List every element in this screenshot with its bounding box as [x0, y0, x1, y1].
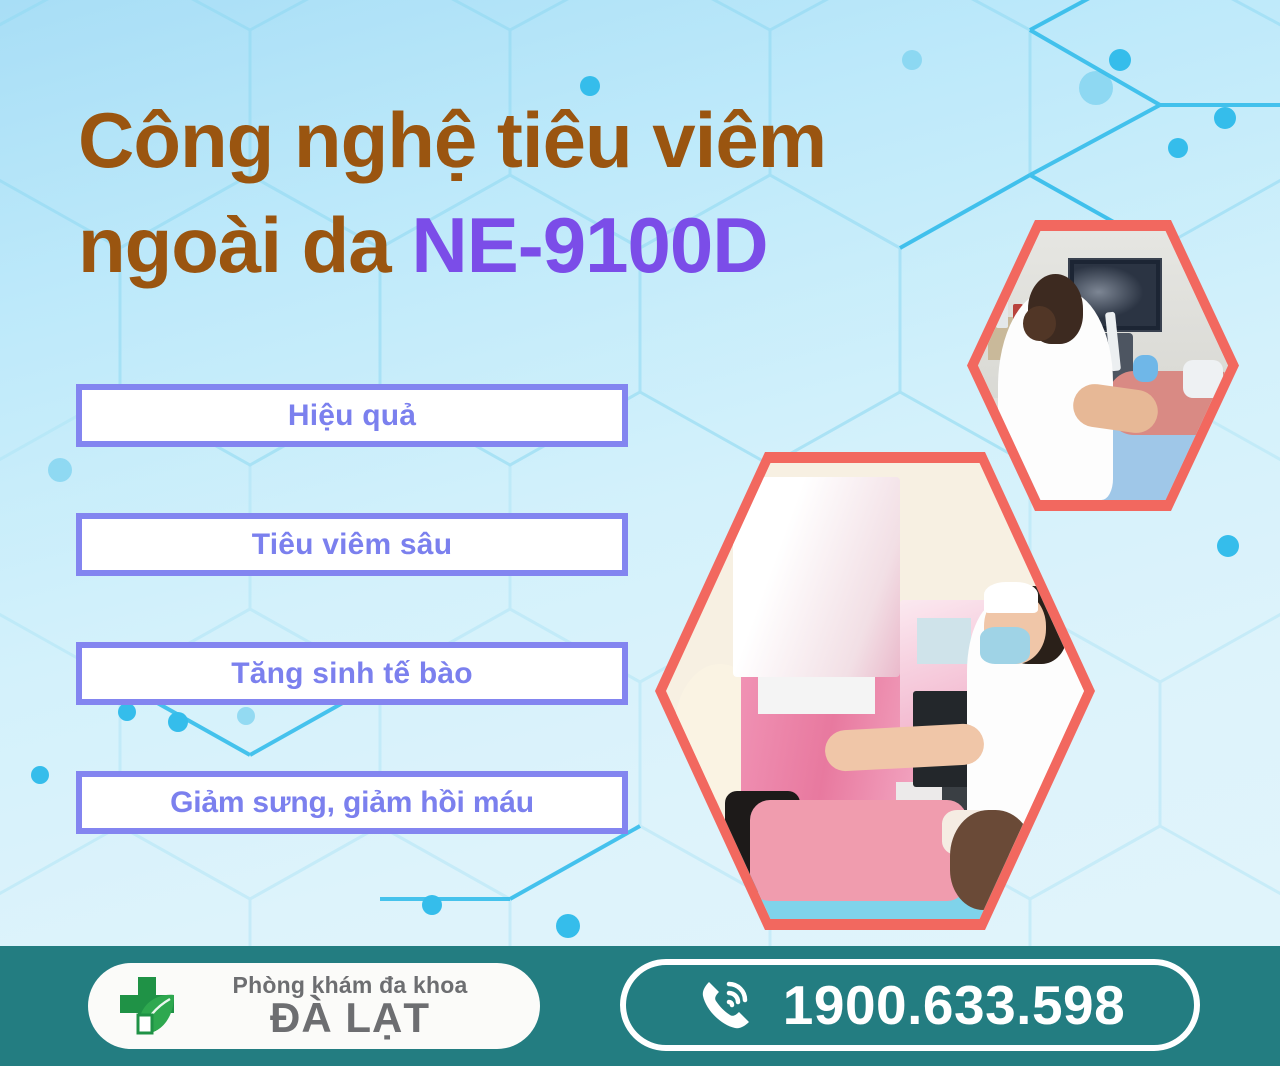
hotline-button[interactable]: 1900.633.598 [620, 959, 1200, 1051]
hex-frame [655, 452, 1095, 930]
feature-label: Tăng sinh tế bào [231, 657, 473, 691]
therapy-machine-image [666, 463, 1084, 919]
promo-banner: Công nghệ tiêu viêm ngoài da NE-9100D Hi… [0, 0, 1280, 1066]
hex-photo-inner [666, 463, 1084, 919]
footer-bar: Phòng khám đa khoa ĐÀ LẠT 1900.633.598 [0, 946, 1280, 1066]
feature-box-1[interactable]: Hiệu quả [76, 384, 628, 447]
feature-box-4[interactable]: Giảm sưng, giảm hồi máu [76, 771, 628, 834]
feature-box-3[interactable]: Tăng sinh tế bào [76, 642, 628, 705]
headline-line-2-prefix: ngoài da [78, 201, 411, 289]
headline-line-1: Công nghệ tiêu viêm [78, 88, 1008, 193]
feature-label: Tiêu viêm sâu [252, 528, 452, 562]
feature-list: Hiệu quả Tiêu viêm sâu Tăng sinh tế bào … [76, 384, 628, 834]
phone-ringing-icon [695, 974, 757, 1036]
headline-line-2: ngoài da NE-9100D [78, 193, 1008, 298]
clinic-title: ĐÀ LẠT [182, 997, 518, 1040]
medical-cross-leaf-icon [112, 971, 182, 1041]
product-model-name: NE-9100D [411, 201, 767, 289]
clinic-logo-pill[interactable]: Phòng khám đa khoa ĐÀ LẠT [88, 963, 540, 1049]
feature-label: Hiệu quả [288, 399, 416, 433]
headline: Công nghệ tiêu viêm ngoài da NE-9100D [78, 88, 1008, 297]
feature-label: Giảm sưng, giảm hồi máu [170, 786, 534, 820]
clinic-name-block: Phòng khám đa khoa ĐÀ LẠT [182, 973, 540, 1040]
hotline-number: 1900.633.598 [783, 978, 1125, 1033]
photo-hex-therapy [655, 452, 1095, 930]
feature-box-2[interactable]: Tiêu viêm sâu [76, 513, 628, 576]
